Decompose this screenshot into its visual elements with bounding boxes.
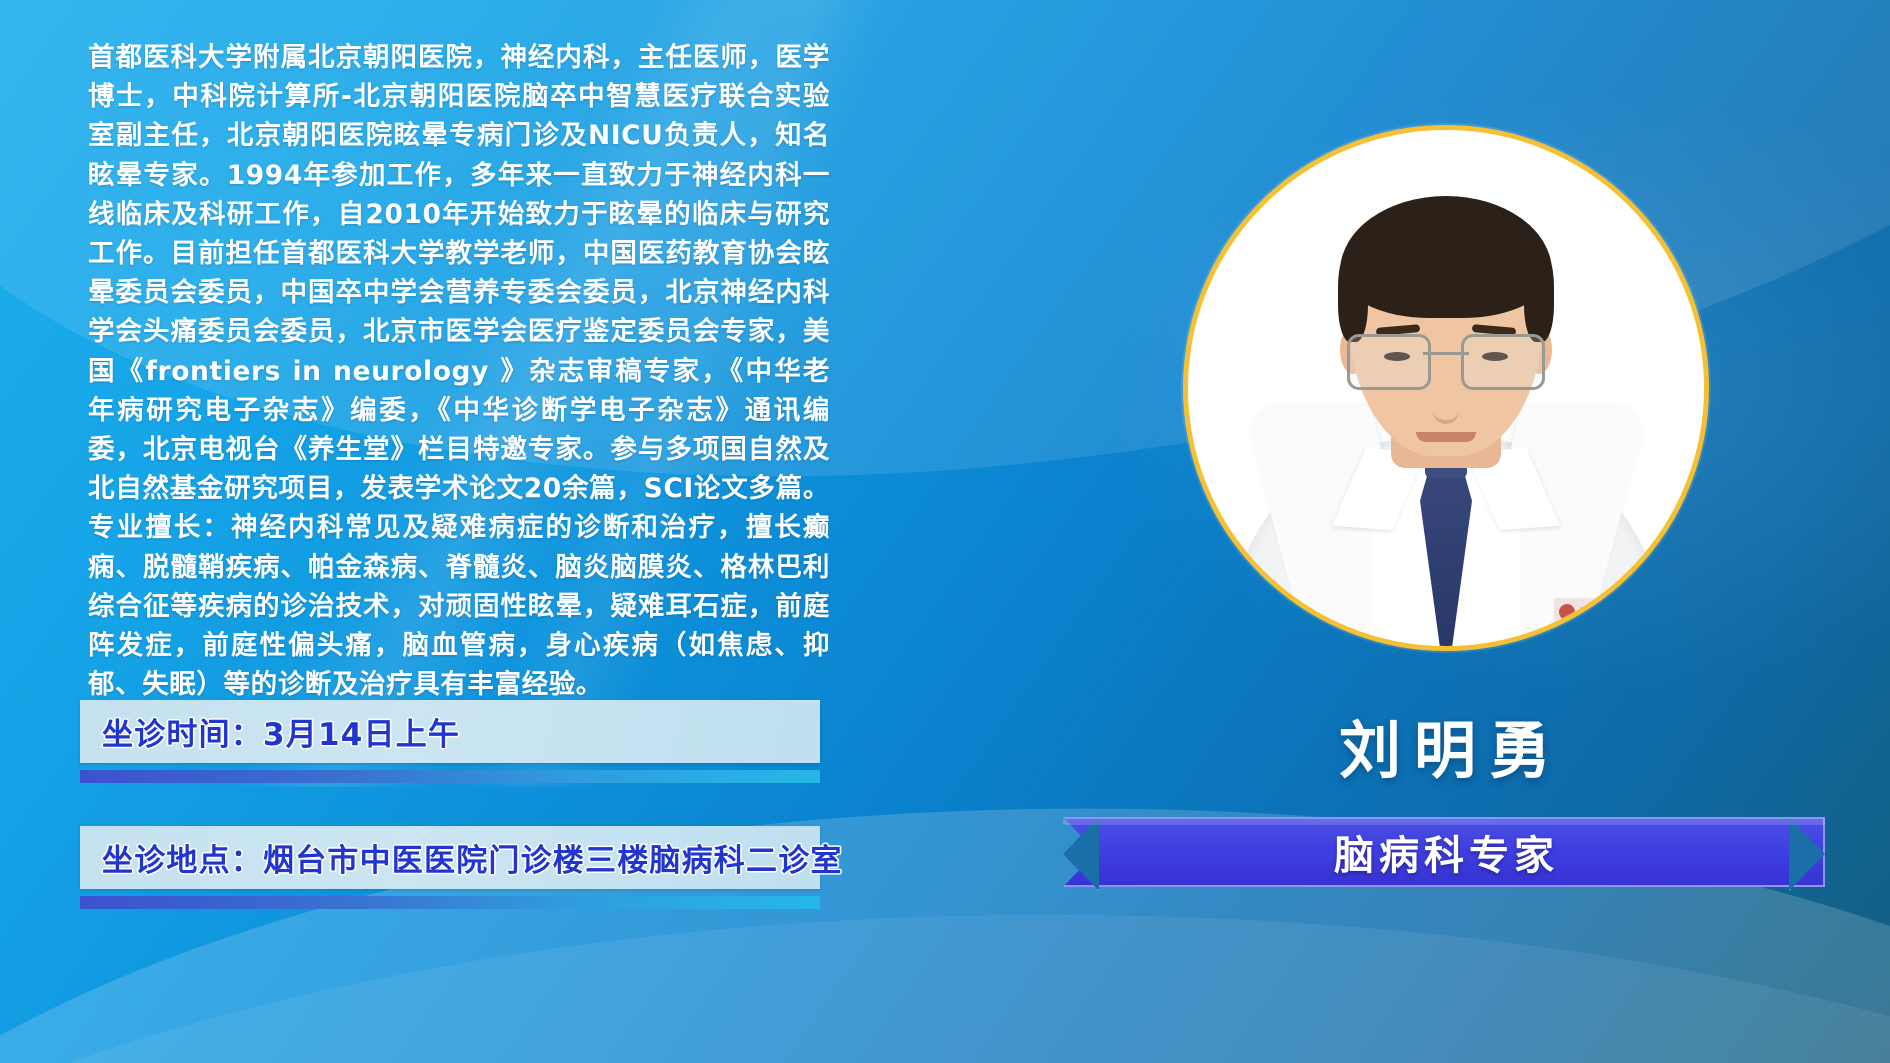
- clinic-time-underline: [80, 770, 820, 783]
- clinic-location-block: 坐诊地点：烟台市中医医院门诊楼三楼脑病科二诊室: [80, 826, 820, 909]
- clinic-time-text: 坐诊时间：3月14日上午: [80, 709, 460, 754]
- right-content-column: 刘明勇 脑病科专家: [1000, 0, 1890, 1063]
- left-content-column: 首都医科大学附属北京朝阳医院，神经内科，主任医师，医学博士，中科院计算所-北京朝…: [0, 0, 1000, 1063]
- doctor-portrait-photo: [1188, 130, 1704, 646]
- clinic-time-block: 坐诊时间：3月14日上午: [80, 700, 820, 783]
- portrait-id-badge: [1554, 598, 1608, 632]
- portrait-lens-right: [1461, 334, 1545, 390]
- clinic-location-bar: 坐诊地点：烟台市中医医院门诊楼三楼脑病科二诊室: [80, 826, 820, 889]
- doctor-name: 刘明勇: [1000, 700, 1890, 790]
- portrait-mouth: [1416, 432, 1476, 442]
- doctor-title-text: 脑病科专家: [1329, 823, 1559, 881]
- doctor-title-banner: 脑病科专家: [1063, 817, 1825, 887]
- portrait-nose: [1433, 386, 1459, 424]
- doctor-portrait-frame: [1183, 125, 1709, 651]
- portrait-glasses-bridge: [1423, 352, 1469, 355]
- portrait-lens-left: [1347, 334, 1431, 390]
- portrait-glasses: [1347, 334, 1545, 388]
- clinic-location-underline: [80, 896, 820, 909]
- expert-intro-poster: 首都医科大学附属北京朝阳医院，神经内科，主任医师，医学博士，中科院计算所-北京朝…: [0, 0, 1890, 1063]
- doctor-title-banner-content: 脑病科专家: [1063, 817, 1825, 887]
- clinic-location-text: 坐诊地点：烟台市中医医院门诊楼三楼脑病科二诊室: [80, 835, 843, 880]
- clinic-time-bar: 坐诊时间：3月14日上午: [80, 700, 820, 763]
- portrait-hair: [1340, 196, 1552, 318]
- doctor-biography-text: 首都医科大学附属北京朝阳医院，神经内科，主任医师，医学博士，中科院计算所-北京朝…: [88, 38, 830, 704]
